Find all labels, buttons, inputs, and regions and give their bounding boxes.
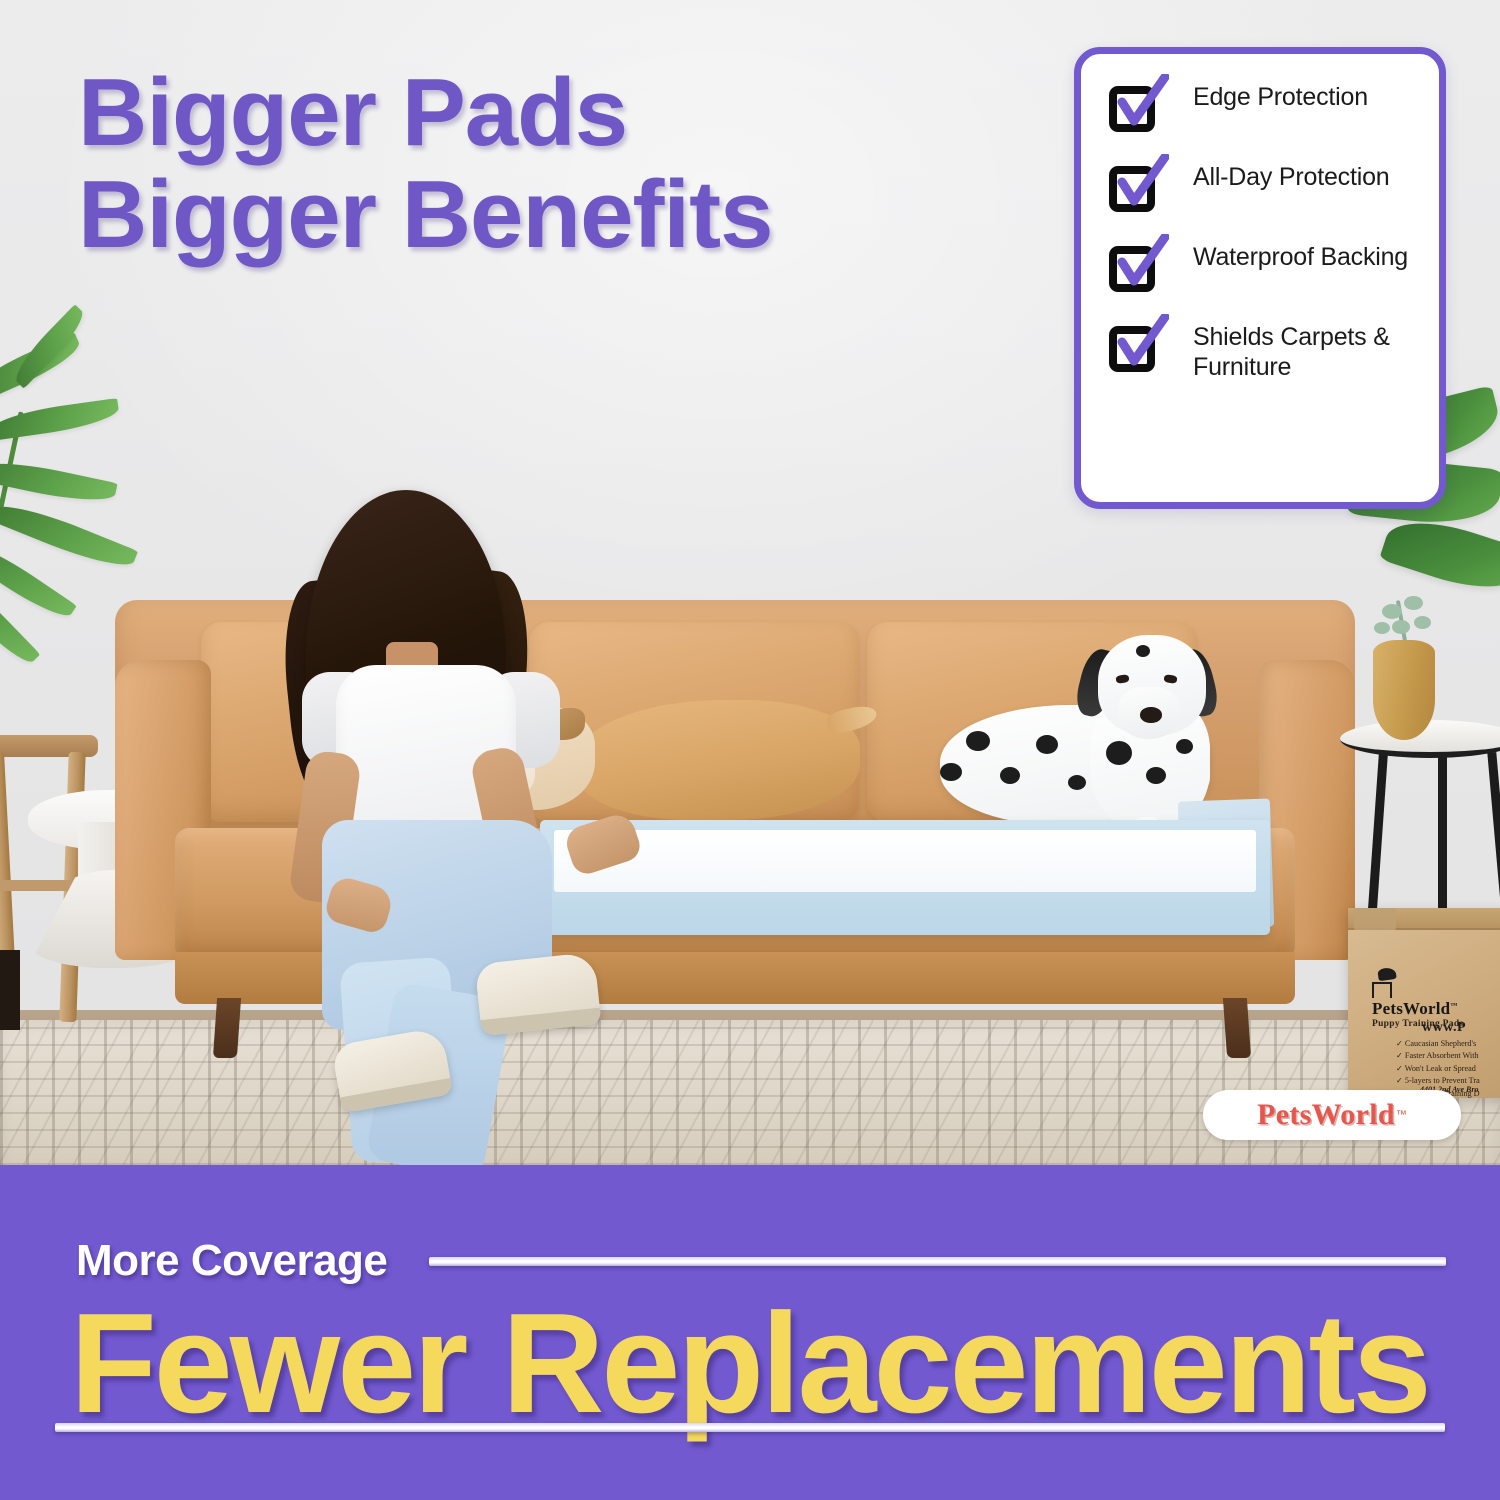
page-title: Bigger Pads Bigger Benefits — [78, 62, 958, 266]
feature-label: All-Day Protection — [1193, 160, 1389, 192]
list-item: All-Day Protection — [1107, 160, 1419, 218]
checkbox-checked-icon — [1107, 322, 1169, 378]
brand-name: PetsWorld — [1257, 1098, 1395, 1132]
dog-house-icon — [1372, 976, 1398, 1000]
banner-kicker: More Coverage — [76, 1236, 387, 1286]
feature-label: Shields Carpets & Furniture — [1193, 320, 1419, 382]
box-bullet: ✓ Won't Leak or Spread — [1396, 1063, 1480, 1075]
bottom-banner: More Coverage Fewer Replacements — [0, 1165, 1500, 1500]
box-bullet: ✓ Caucasian Shepherd's — [1396, 1038, 1480, 1050]
list-item: Waterproof Backing — [1107, 240, 1419, 298]
trademark-symbol: ™ — [1396, 1109, 1407, 1121]
checkbox-checked-icon — [1107, 162, 1169, 218]
ad-creative: PetsWorld™ Puppy Training Pads www.P ✓ C… — [0, 0, 1500, 1500]
headline-line-1: Bigger Pads — [78, 59, 627, 166]
product-box: PetsWorld™ Puppy Training Pads www.P ✓ C… — [1348, 908, 1500, 1098]
banner-headline: Fewer Replacements — [70, 1293, 1450, 1435]
brand-logo-badge: PetsWorld™ — [1203, 1090, 1461, 1140]
headline-line-2: Bigger Benefits — [78, 164, 958, 266]
banner-kicker-row: More Coverage — [76, 1236, 1446, 1286]
list-item: Edge Protection — [1107, 80, 1419, 138]
feature-label: Edge Protection — [1193, 80, 1368, 112]
features-checklist-card: Edge Protection All-Day Protection Water… — [1074, 47, 1446, 509]
checkbox-checked-icon — [1107, 242, 1169, 298]
feature-label: Waterproof Backing — [1193, 240, 1408, 272]
divider-line-bottom — [55, 1423, 1445, 1432]
woman-on-couch — [250, 490, 670, 1070]
box-bullet: ✓ Faster Absorbent With — [1396, 1050, 1480, 1062]
divider-line-top — [429, 1257, 1446, 1266]
list-item: Shields Carpets & Furniture — [1107, 320, 1419, 382]
box-trademark-symbol: ™ — [1450, 1001, 1457, 1009]
checkbox-checked-icon — [1107, 82, 1169, 138]
box-brand-name: PetsWorld™ — [1372, 1000, 1500, 1017]
box-website: www.P — [1422, 1020, 1466, 1036]
